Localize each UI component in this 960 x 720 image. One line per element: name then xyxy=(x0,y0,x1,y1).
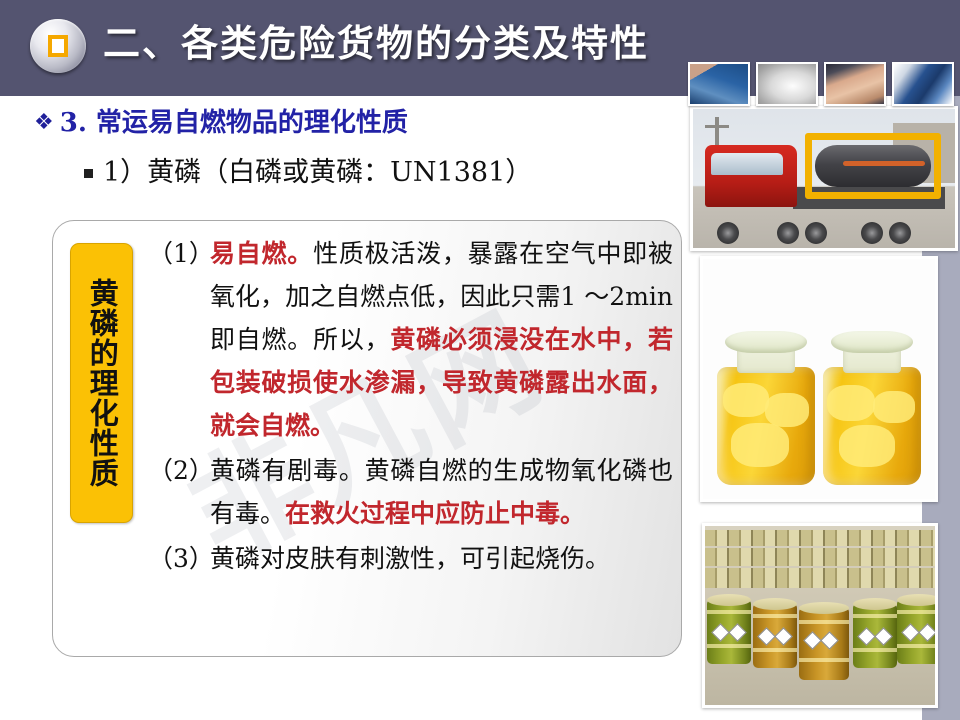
truck-wheel xyxy=(777,222,799,244)
drum-ring xyxy=(853,648,897,652)
hazard-diamond-label-icon xyxy=(820,631,838,649)
paragraph-1-number: （1） xyxy=(148,232,210,275)
man-face-image xyxy=(826,64,884,104)
hazard-drum xyxy=(799,608,849,680)
outline-level1: ❖ 3. 常运易自燃物品的理化性质 xyxy=(34,106,408,140)
hazard-drum xyxy=(853,604,897,668)
drum-lid xyxy=(707,594,751,606)
hand-with-tablet-thumbnail xyxy=(688,62,750,106)
paragraph-3-number: （3） xyxy=(148,537,210,580)
hazard-drums-image xyxy=(705,526,935,705)
hazard-drum xyxy=(707,600,751,664)
truck-wheel xyxy=(805,222,827,244)
drum-ring xyxy=(853,614,897,618)
drum-lid xyxy=(799,602,849,614)
drum-ring xyxy=(897,610,935,614)
hazard-diamond-label-icon xyxy=(874,627,892,645)
paragraph-3-run-1: 黄磷对皮肤有刺激性，可引起烧伤。 xyxy=(210,544,610,573)
tank-container-body xyxy=(815,145,931,187)
hazard-drum xyxy=(897,600,935,664)
paragraph-1-run-1: 易自燃。 xyxy=(210,239,313,268)
outline-level2: 1）黄磷（白磷或黄磷：UN1381） xyxy=(84,155,532,191)
blue-panel-image xyxy=(894,64,952,104)
outline-level1-label: 3. 常运易自燃物品的理化性质 xyxy=(60,106,408,140)
drum-field-far xyxy=(705,530,935,546)
vertical-side-label: 黄磷的理化性质 xyxy=(70,243,133,523)
hazard-diamond-label-icon xyxy=(711,623,729,641)
phosphorus-chunk xyxy=(765,393,809,427)
drum-ring xyxy=(707,644,751,648)
hazard-drum xyxy=(753,604,797,668)
drum-lid xyxy=(753,598,797,610)
hazard-diamond-label-icon xyxy=(728,623,746,641)
paragraph-2-number: （2） xyxy=(148,449,210,492)
gray-object-thumbnail xyxy=(756,62,818,106)
jar-body xyxy=(823,367,921,485)
paragraph-3: （3） 黄磷对皮肤有刺激性，可引起烧伤。 xyxy=(148,537,673,580)
yellow-phosphorus-jars-photo xyxy=(700,256,938,502)
paragraph-1: （1） 易自燃。性质极活泼，暴露在空气中即被氧化，加之自燃点低，因此只需1 ～2… xyxy=(148,232,673,447)
drum-ring xyxy=(707,610,751,614)
thumbnail-row xyxy=(688,62,960,106)
drum-ring xyxy=(897,644,935,648)
jar-stopper xyxy=(831,331,913,353)
paragraph-3-body: 黄磷对皮肤有刺激性，可引起烧伤。 xyxy=(210,537,673,580)
phosphorus-chunk xyxy=(839,425,895,467)
drum-field-near xyxy=(705,568,935,588)
hazard-diamond-label-icon xyxy=(857,627,875,645)
phosphorus-jar xyxy=(823,325,921,485)
drum-lid xyxy=(853,598,897,610)
hazard-diamond-label-icon xyxy=(774,627,792,645)
tank-container-stripe xyxy=(843,161,925,166)
body-text-block: （1） 易自燃。性质极活泼，暴露在空气中即被氧化，加之自燃点低，因此只需1 ～2… xyxy=(148,232,673,582)
hazard-drums-photo xyxy=(702,523,938,708)
outline-level2-label: 1）黄磷（白磷或黄磷：UN1381） xyxy=(103,155,532,191)
page-title: 二、各类危险货物的分类及特性 xyxy=(103,13,649,67)
phosphorus-chunk xyxy=(827,385,875,421)
yellow-phosphorus-jars-image xyxy=(703,259,935,499)
paragraph-1-body: 易自燃。性质极活泼，暴露在空气中即被氧化，加之自燃点低，因此只需1 ～2min即… xyxy=(210,232,673,447)
hand-with-tablet-image xyxy=(690,64,748,104)
gray-object-image xyxy=(758,64,816,104)
tank-truck-photo xyxy=(690,106,958,251)
man-face-thumbnail xyxy=(824,62,886,106)
paragraph-2-run-2: 在救火过程中应防止中毒。 xyxy=(285,499,585,528)
slide: 二、各类危险货物的分类及特性 ❖ 3. 常运易自燃物品的理化性质 1）黄磷（白磷… xyxy=(0,0,960,720)
phosphorus-chunk xyxy=(873,391,915,423)
tank-truck-image xyxy=(693,109,955,248)
hazard-diamond-label-icon xyxy=(901,623,919,641)
drum-lid xyxy=(897,594,935,606)
drum-ring xyxy=(799,620,849,624)
diamond-bullet-icon: ❖ xyxy=(34,106,54,140)
phosphorus-chunk xyxy=(731,423,789,467)
truck-wheel xyxy=(861,222,883,244)
drum-ring xyxy=(799,658,849,662)
truck-windshield xyxy=(711,153,783,175)
content-card: 非凡网 黄磷的理化性质 （1） 易自燃。性质极活泼，暴露在空气中即被氧化，加之自… xyxy=(52,220,682,657)
phosphorus-jar xyxy=(717,325,815,485)
vertical-side-label-text: 黄磷的理化性质 xyxy=(84,278,119,488)
circle-square-emblem-icon xyxy=(30,19,86,73)
truck-wheel xyxy=(717,222,739,244)
paragraph-2: （2） 黄磷有剧毒。黄磷自燃的生成物氧化磷也有毒。在救火过程中应防止中毒。 xyxy=(148,449,673,535)
jar-body xyxy=(717,367,815,485)
paragraph-2-body: 黄磷有剧毒。黄磷自燃的生成物氧化磷也有毒。在救火过程中应防止中毒。 xyxy=(210,449,673,535)
emblem-inner-square xyxy=(48,35,68,57)
hazard-diamond-label-icon xyxy=(918,623,935,641)
drum-field-mid xyxy=(705,548,935,566)
blue-panel-thumbnail xyxy=(892,62,954,106)
drum-ring xyxy=(753,648,797,652)
square-bullet-icon xyxy=(84,169,93,178)
truck-wheel xyxy=(889,222,911,244)
phosphorus-chunk xyxy=(723,383,769,417)
drum-ring xyxy=(753,614,797,618)
hazard-diamond-label-icon xyxy=(757,627,775,645)
jar-stopper xyxy=(725,331,807,353)
hazard-diamond-label-icon xyxy=(803,631,821,649)
